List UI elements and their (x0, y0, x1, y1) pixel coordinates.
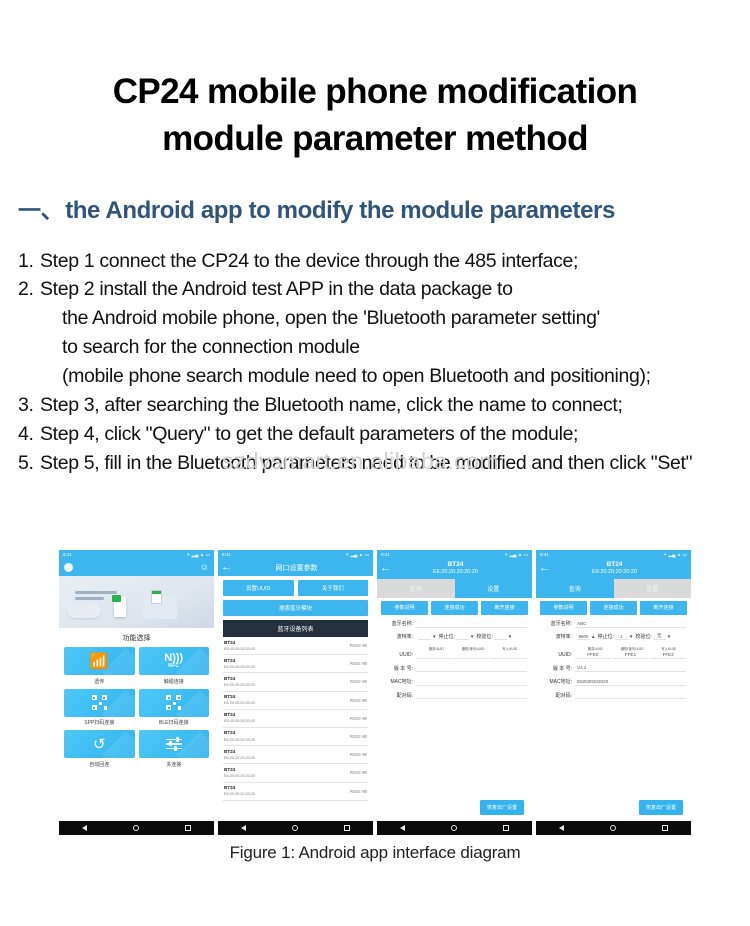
tab-bar: 查询 设置 (536, 579, 691, 598)
phone-screenshot-params-filled: 9:41 ✴ ▂▄ ▲ ▭ ← BT24 E6:20:20:20:20:20 查… (536, 550, 691, 835)
device-mac-subtitle: E6:20:20:20:20:20 (433, 569, 478, 575)
search-bluetooth-module-button[interactable]: 搜索蓝牙模块 (223, 600, 368, 616)
banner-line-2 (75, 597, 104, 600)
device-rssi: RSSI:-90 (350, 734, 367, 739)
device-mac: E6:20:20:20:20:20 (224, 665, 255, 669)
tile-surface: 📶 (64, 647, 135, 675)
signal-icon: ▂▄ (192, 552, 199, 558)
back-arrow-icon[interactable]: ← (218, 562, 232, 573)
section-marker: 一、 (18, 191, 63, 225)
field-label: UUID: (382, 652, 416, 658)
tile-surface (64, 689, 135, 717)
connect-status-button[interactable]: 连接成功 (590, 601, 637, 615)
pairing-code-input[interactable] (416, 691, 527, 699)
device-mac: E6:20:20:20:20:20 (224, 647, 255, 651)
device-info: BT24 E6:20:20:20:20:20 (224, 640, 255, 652)
device-info: BT24 E6:20:20:20:20:20 (224, 749, 255, 761)
back-arrow-icon[interactable]: ← (536, 563, 550, 574)
field-mac: MAC地址: (382, 678, 527, 686)
sub-button-row: 参数说明 连接成功 断开连接 (377, 598, 532, 615)
banner-phone-badge (112, 595, 121, 602)
baud-rate-value: 9600 (577, 633, 590, 640)
uuid-inputs: FFE0 FFE1 FFE2 (575, 651, 686, 659)
tile-label: SPP扫码连接 (64, 717, 135, 727)
list-item: 2. Step 2 install the Android test APP i… (18, 275, 734, 390)
uuid-inputs (416, 651, 527, 659)
step-subline: (mobile phone search module need to open… (40, 362, 734, 391)
status-icons: ✴ ▂▄ ▲ ▭ (663, 552, 687, 558)
field-uuid: UUID: FFE0 FFE1 FFE2 (541, 651, 686, 659)
field-version: 版 本 号: (382, 664, 527, 672)
signal-icon: ▂▄ (669, 552, 676, 558)
step-number: 2. (18, 275, 40, 390)
step-text: Step 3, after searching the Bluetooth na… (40, 391, 734, 420)
function-tile-spp-qr[interactable]: SPP扫码连接 (64, 689, 135, 727)
status-bar: 9:41 ✴ ▂▄ ▲ ▭ (536, 550, 691, 559)
nav-back-icon[interactable] (82, 825, 87, 831)
user-icon[interactable]: ☺ (200, 563, 209, 572)
sub-button-row: 参数说明 连接成功 断开连接 (536, 598, 691, 615)
search-button-row: 搜索蓝牙模块 (218, 596, 373, 616)
stop-bit-select[interactable]: 停止位: 1 ▼ (597, 633, 633, 640)
device-mac: E6:20:20:20:20:20 (224, 701, 255, 705)
field-uuid: UUID: (382, 651, 527, 659)
stop-bit-select[interactable]: 停止位: ▼ (438, 633, 474, 640)
phone-screenshot-home: 9:41 ✴ ▂▄ ▲ ▭ ☺ (59, 550, 214, 835)
page-title: CP24 mobile phone modification module pa… (0, 0, 750, 163)
device-info: BT24 E6:20:20:20:20:20 (224, 694, 255, 706)
tile-label: 自动回连 (64, 758, 135, 768)
function-tile-passthrough[interactable]: 📶 透传 (64, 647, 135, 685)
banner-text (75, 591, 117, 603)
status-icons: ✴ ▂▄ ▲ ▭ (345, 552, 369, 558)
restore-factory-settings-button[interactable]: 恢复出厂设置 (639, 800, 683, 815)
tile-label: 多连接 (139, 758, 210, 768)
reset-button-row: 恢复出厂设置 (377, 800, 532, 821)
step-number: 4. (18, 420, 40, 449)
banner-phone-mockup (114, 597, 126, 617)
step-text: Step 5, fill in the Bluetooth parameters… (40, 449, 734, 478)
version-value (416, 664, 527, 672)
tile-surface: N))) NFC (139, 647, 210, 675)
field-serial-settings: 波特率: ▼ 停止位: ▼ 校验位: ▼ (382, 633, 527, 640)
device-rssi: RSSI:-90 (350, 770, 367, 775)
function-grid: 📶 透传 N))) NFC 触碰连接 (59, 647, 214, 768)
field-version: 版 本 号: V4.2 (541, 664, 686, 672)
nav-recents-icon[interactable] (185, 825, 191, 831)
list-item: 5. Step 5, fill in the Bluetooth paramet… (18, 449, 734, 478)
device-rssi: RSSI:-90 (350, 698, 367, 703)
step-number: 1. (18, 247, 40, 276)
field-label: 停止位: (597, 633, 613, 640)
pairing-code-input[interactable] (575, 691, 686, 699)
section-heading: 一、 the Android app to modify the module … (0, 163, 750, 225)
device-mac: E6:20:20:20:20:20 (224, 792, 255, 796)
chevron-down-icon: ▼ (508, 634, 512, 639)
tab-set[interactable]: 设置 (455, 579, 533, 598)
set-uuid-button[interactable]: 设置UUID (223, 580, 294, 596)
field-label: MAC地址: (541, 678, 575, 685)
status-icons: ✴ ▂▄ ▲ ▭ (186, 552, 210, 558)
reset-button-row: 恢复出厂设置 (536, 800, 691, 821)
field-label: 配对码: (541, 692, 575, 699)
field-label: MAC地址: (382, 678, 416, 685)
parameter-form: 蓝牙名称: 波特率: ▼ 停止位: ▼ 校验位: (377, 615, 532, 705)
device-rssi: RSSI:-90 (350, 789, 367, 794)
tile-label: 透传 (64, 675, 135, 685)
nfc-icon-label: NFC (168, 663, 179, 669)
document-page: CP24 mobile phone modification module pa… (0, 0, 750, 926)
battery-icon: ▭ (524, 552, 528, 558)
chevron-down-icon: ▼ (432, 634, 436, 639)
device-mac: E6:20:20:20:20:20 (224, 719, 255, 723)
nav-back-icon[interactable] (241, 825, 246, 831)
uuid-write-input[interactable] (491, 651, 527, 659)
list-item[interactable]: BT24 E6:20:20:20:20:20 RSSI:-90 (223, 764, 368, 782)
device-name: BT24 (224, 767, 235, 772)
tile-surface (139, 689, 210, 717)
baud-rate-value (418, 633, 431, 640)
android-nav-bar (536, 821, 691, 835)
banner-line-1 (75, 591, 117, 594)
field-label: 波特率: (541, 633, 575, 640)
device-mac-subtitle: E6:20:20:20:20:20 (592, 569, 637, 575)
list-item[interactable]: BT24 E6:20:20:20:20:20 RSSI:-90 (223, 692, 368, 710)
nfc-icon: N))) NFC (164, 653, 183, 669)
device-info: BT24 E6:20:20:20:20:20 (224, 767, 255, 779)
nav-home-icon[interactable] (133, 825, 140, 832)
function-tile-nfc[interactable]: N))) NFC 触碰连接 (139, 647, 210, 685)
status-time: 9:41 (540, 552, 549, 557)
status-time: 9:41 (381, 552, 390, 557)
device-rssi: RSSI:-90 (350, 643, 367, 648)
device-title: BT24 (607, 561, 623, 568)
about-us-button[interactable]: 关于我们 (298, 580, 369, 596)
section-heading-text: the Android app to modify the module par… (65, 197, 615, 225)
field-bluetooth-name: 蓝牙名称: ABC (541, 620, 686, 628)
wifi-icon: ▲ (518, 552, 522, 557)
device-rssi: RSSI:-90 (350, 679, 367, 684)
device-name: BT24 (224, 785, 235, 790)
device-list-header: 蓝牙设备列表 (223, 620, 368, 637)
list-item[interactable]: BT24 E6:20:20:20:20:20 RSSI:-90 (223, 710, 368, 728)
list-item: 3. Step 3, after searching the Bluetooth… (18, 391, 734, 420)
list-item: 4. Step 4, click "Query" to get the defa… (18, 420, 734, 449)
mac-address-value (416, 678, 527, 686)
chevron-down-icon: ▼ (470, 634, 474, 639)
battery-icon: ▭ (683, 552, 687, 558)
status-time: 9:41 (63, 552, 72, 557)
status-bar: 9:41 ✴ ▂▄ ▲ ▭ (59, 550, 214, 559)
device-rssi: RSSI:-90 (350, 661, 367, 666)
field-label: 版 本 号: (541, 665, 575, 672)
bluetooth-status-icon: ✴ (345, 552, 349, 558)
app-bar-title-group: BT24 E6:20:20:20:20:20 (391, 559, 520, 579)
device-name: BT24 (224, 694, 235, 699)
parameter-form: 蓝牙名称: ABC 波特率: 9600 ▲ 停止位: 1 ▼ 校验位: (536, 615, 691, 705)
app-bar-title-group: BT24 E6:20:20:20:20:20 (550, 559, 679, 579)
device-name: BT24 (224, 640, 235, 645)
app-bar: ← 网口设置参数 (218, 559, 373, 576)
device-name: BT24 (224, 749, 235, 754)
step-subline: the Android mobile phone, open the 'Blue… (40, 304, 734, 333)
figure-caption: Figure 1: Android app interface diagram (0, 843, 750, 863)
android-nav-bar (377, 821, 532, 835)
field-mac: MAC地址: E62020202020 (541, 678, 686, 686)
uuid-service-input[interactable]: FFE0 (575, 651, 611, 659)
wifi-icon: ▲ (359, 552, 363, 557)
status-time: 9:41 (222, 552, 231, 557)
field-label: 校验位: (476, 633, 492, 640)
device-info: BT24 E6:20:20:20:20:20 (224, 785, 255, 797)
mac-address-value: E62020202020 (575, 678, 686, 686)
bluetooth-name-input[interactable] (416, 620, 527, 628)
disconnect-button[interactable]: 断开连接 (640, 601, 687, 615)
device-info: BT24 E6:20:20:20:20:20 (224, 730, 255, 742)
field-label: 波特率: (382, 633, 416, 640)
device-mac: E6:20:20:20:20:20 (224, 774, 255, 778)
signal-icon: ▂▄ (351, 552, 358, 558)
device-info: BT24 E6:20:20:20:20:20 (224, 712, 255, 724)
nav-recents-icon[interactable] (344, 825, 350, 831)
tab-set[interactable]: 设置 (614, 579, 692, 598)
tab-bar: 查询 设置 (377, 579, 532, 598)
bluetooth-status-icon: ✴ (504, 552, 508, 558)
function-tile-multiconnect[interactable]: 多连接 (139, 730, 210, 768)
tile-label: BLE扫码连接 (139, 717, 210, 727)
nav-home-icon[interactable] (292, 825, 299, 832)
uuid-notify-input[interactable] (454, 651, 490, 659)
step-text-group: Step 2 install the Android test APP in t… (40, 275, 734, 390)
field-label: 校验位: (635, 633, 651, 640)
field-label: UUID: (541, 652, 575, 658)
promo-banner (59, 576, 214, 628)
field-bluetooth-name: 蓝牙名称: (382, 620, 527, 628)
nav-home-icon[interactable] (451, 825, 458, 832)
status-bar: 9:41 ✴ ▂▄ ▲ ▭ (377, 550, 532, 559)
qrcode-icon (92, 695, 107, 710)
status-icons: ✴ ▂▄ ▲ ▭ (504, 552, 528, 558)
stop-bit-value (456, 633, 469, 640)
parity-value: 无 (653, 633, 666, 640)
field-label: 版 本 号: (382, 665, 416, 672)
tab-query[interactable]: 查询 (536, 579, 614, 598)
device-list: BT24 E6:20:20:20:20:20 RSSI:-90 BT24 E6:… (218, 637, 373, 801)
restore-factory-settings-button[interactable]: 恢复出厂设置 (480, 800, 524, 815)
field-label: 配对码: (382, 692, 416, 699)
nav-recents-icon[interactable] (503, 825, 509, 831)
battery-icon: ▭ (206, 552, 210, 558)
baud-rate-select[interactable]: ▼ (418, 633, 436, 640)
signal-icon: ▂▄ (510, 552, 517, 558)
device-mac: E6:20:20:20:20:20 (224, 756, 255, 760)
tab-query[interactable]: 查询 (377, 579, 455, 598)
step-text: Step 1 connect the CP24 to the device th… (40, 247, 734, 276)
bluetooth-name-input[interactable]: ABC (575, 620, 686, 628)
parity-select[interactable]: 校验位: ▼ (476, 633, 512, 640)
device-mac: E6:20:20:20:20:20 (224, 738, 255, 742)
device-rssi: RSSI:-90 (350, 752, 367, 757)
baud-rate-select[interactable]: 9600 ▲ (577, 633, 595, 640)
param-description-button[interactable]: 参数说明 (381, 601, 428, 615)
step-number: 5. (18, 449, 40, 478)
tile-surface (139, 730, 210, 758)
list-item[interactable]: BT24 E6:20:20:20:20:20 RSSI:-90 (223, 728, 368, 746)
device-info: BT24 E6:20:20:20:20:20 (224, 676, 255, 688)
field-serial-settings: 波特率: 9600 ▲ 停止位: 1 ▼ 校验位: 无 ▼ (541, 633, 686, 640)
app-bar-title: 网口设置参数 (232, 563, 361, 573)
field-label: 停止位: (438, 633, 454, 640)
device-info: BT24 E6:20:20:20:20:20 (224, 658, 255, 670)
app-bar: ← BT24 E6:20:20:20:20:20 (377, 559, 532, 579)
connect-status-button[interactable]: 连接成功 (431, 601, 478, 615)
chevron-down-icon: ▼ (667, 634, 671, 639)
list-item[interactable]: BT24 E6:20:20:20:20:20 RSSI:-90 (223, 783, 368, 801)
device-name: BT24 (224, 730, 235, 735)
function-tile-auto-reconnect[interactable]: ↺ 自动回连 (64, 730, 135, 768)
version-value: V4.2 (575, 664, 686, 672)
field-label: 蓝牙名称: (541, 620, 575, 627)
qrcode-icon (166, 695, 181, 710)
param-description-button[interactable]: 参数说明 (540, 601, 587, 615)
banner-tag-strip (152, 591, 161, 594)
field-pairing-code: 配对码: (541, 691, 686, 699)
top-button-row: 设置UUID 关于我们 (218, 576, 373, 596)
chevron-down-icon: ▼ (629, 634, 633, 639)
device-name: BT24 (224, 658, 235, 663)
uuid-notify-input[interactable]: FFE1 (613, 651, 649, 659)
bluetooth-icon: 📶 (90, 654, 109, 669)
device-rssi: RSSI:-90 (350, 716, 367, 721)
uuid-service-input[interactable] (416, 651, 452, 659)
step-text: Step 2 install the Android test APP in t… (40, 278, 513, 300)
step-subline: to search for the connection module (40, 333, 734, 362)
uuid-write-input[interactable]: FFE2 (650, 651, 686, 659)
parity-select[interactable]: 校验位: 无 ▼ (635, 633, 671, 640)
wifi-icon: ▲ (677, 552, 681, 557)
wifi-icon: ▲ (200, 552, 204, 557)
nav-back-icon[interactable] (559, 825, 564, 831)
bluetooth-status-icon: ✴ (663, 552, 667, 558)
android-nav-bar (218, 821, 373, 835)
banner-product-box (67, 603, 101, 618)
banner-qr-tag (151, 590, 162, 604)
chevron-up-icon: ▲ (591, 634, 595, 639)
android-nav-bar (59, 821, 214, 835)
function-tile-ble-qr[interactable]: BLE扫码连接 (139, 689, 210, 727)
parity-value (494, 633, 507, 640)
field-pairing-code: 配对码: (382, 691, 527, 699)
device-mac: E6:20:20:20:20:20 (224, 683, 255, 687)
steps-list: 1. Step 1 connect the CP24 to the device… (0, 225, 750, 478)
step-number: 3. (18, 391, 40, 420)
app-bar: ☺ (59, 559, 214, 576)
app-bar: ← BT24 E6:20:20:20:20:20 (536, 559, 691, 579)
nav-back-icon[interactable] (400, 825, 405, 831)
phone-screenshot-params-empty: 9:41 ✴ ▂▄ ▲ ▭ ← BT24 E6:20:20:20:20:20 查… (377, 550, 532, 835)
list-item: 1. Step 1 connect the CP24 to the device… (18, 247, 734, 276)
stop-bit-value: 1 (615, 633, 628, 640)
list-item[interactable]: BT24 E6:20:20:20:20:20 RSSI:-90 (223, 746, 368, 764)
bluetooth-status-icon: ✴ (186, 552, 190, 558)
disconnect-button[interactable]: 断开连接 (481, 601, 528, 615)
app-logo-icon (64, 563, 73, 572)
auto-reconnect-icon: ↺ (93, 737, 106, 752)
field-label: 蓝牙名称: (382, 620, 416, 627)
list-item[interactable]: BT24 E6:20:20:20:20:20 RSSI:-90 (223, 673, 368, 691)
function-select-title: 功能选择 (59, 628, 214, 647)
tile-surface: ↺ (64, 730, 135, 758)
back-arrow-icon[interactable]: ← (377, 563, 391, 574)
figure-phone-screenshots: 9:41 ✴ ▂▄ ▲ ▭ ☺ (0, 550, 750, 835)
nav-recents-icon[interactable] (662, 825, 668, 831)
list-item[interactable]: BT24 E6:20:20:20:20:20 RSSI:-90 (223, 637, 368, 655)
nav-home-icon[interactable] (610, 825, 617, 832)
battery-icon: ▭ (365, 552, 369, 558)
sliders-icon (166, 738, 182, 751)
step-text: Step 4, click "Query" to get the default… (40, 420, 734, 449)
device-name: BT24 (224, 712, 235, 717)
device-title: BT24 (448, 561, 464, 568)
tile-label: 触碰连接 (139, 675, 210, 685)
status-bar: 9:41 ✴ ▂▄ ▲ ▭ (218, 550, 373, 559)
list-item[interactable]: BT24 E6:20:20:20:20:20 RSSI:-90 (223, 655, 368, 673)
device-name: BT24 (224, 676, 235, 681)
phone-screenshot-scan-list: 9:41 ✴ ▂▄ ▲ ▭ ← 网口设置参数 设置UUID 关于我们 搜索蓝牙模… (218, 550, 373, 835)
